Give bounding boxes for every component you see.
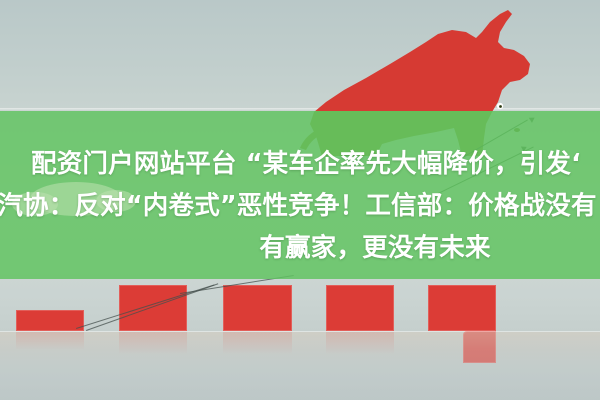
headline-line-3: 有赢家，更没有未来 — [150, 227, 600, 269]
chart-bar-2 — [119, 285, 187, 331]
chart-bar-4 — [326, 285, 394, 331]
headline-line-2: 汽协：反对“内卷式”恶性竞争！工信部：价格战没有 — [0, 185, 600, 227]
background-floor — [0, 332, 600, 400]
headline-text: 配资门户网站平台 “某车企率先大幅降价，引发‘ 汽协：反对“内卷式”恶性竞争！工… — [0, 118, 600, 278]
headline-line-1: 配资门户网站平台 “某车企率先大幅降价，引发‘ — [12, 143, 600, 185]
chart-bar-5 — [428, 285, 496, 331]
chart-bar-3 — [223, 285, 292, 331]
chart-bar-1 — [16, 310, 84, 331]
banner-image: 配资门户网站平台 “某车企率先大幅降价，引发‘ 汽协：反对“内卷式”恶性竞争！工… — [0, 0, 600, 400]
